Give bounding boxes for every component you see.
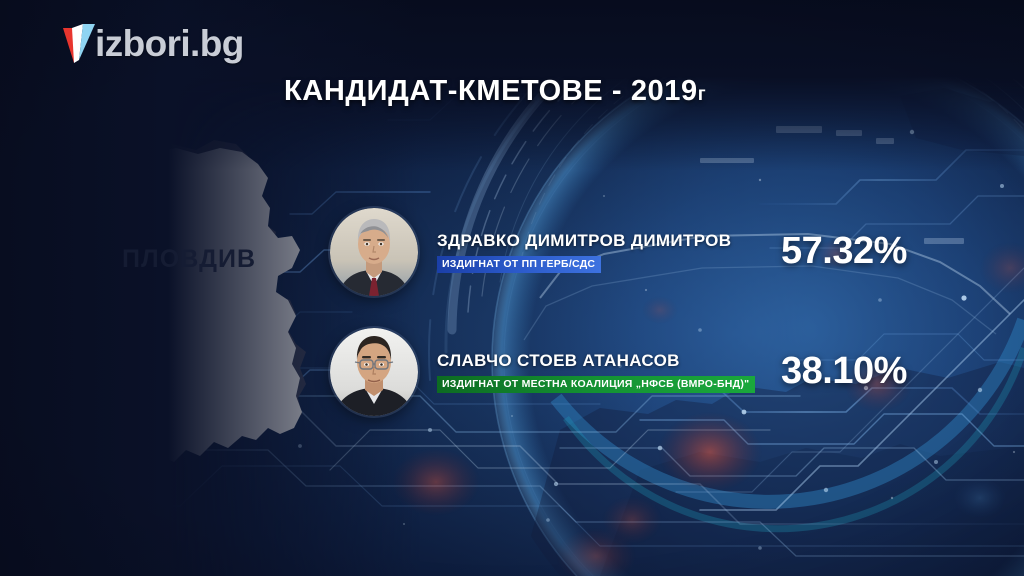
site-logo[interactable]: izbori.bg	[63, 19, 244, 67]
candidate-photo-zdravko-dimitrov	[330, 208, 418, 296]
candidate-name: ЗДРАВКО ДИМИТРОВ ДИМИТРОВ	[437, 231, 731, 251]
candidate-percent: 57.32%	[781, 230, 907, 273]
page-title-main: КАНДИДАТ-КМЕТОВЕ - 2019	[284, 75, 698, 107]
candidate-row[interactable]: СЛАВЧО СТОЕВ АТАНАСОВ ИЗДИГНАТ ОТ МЕСТНА…	[330, 326, 755, 418]
checkmark-logo-icon	[63, 22, 97, 64]
candidate-row[interactable]: ЗДРАВКО ДИМИТРОВ ДИМИТРОВ ИЗДИГНАТ ОТ ПП…	[330, 206, 731, 298]
map-region-label: ПЛОВДИВ	[122, 245, 256, 274]
candidate-info: СЛАВЧО СТОЕВ АТАНАСОВ ИЗДИГНАТ ОТ МЕСТНА…	[437, 351, 755, 393]
site-logo-text: izbori.bg	[95, 25, 244, 62]
page-title-suffix: г	[698, 84, 706, 105]
candidate-party-badge: ИЗДИГНАТ ОТ ПП ГЕРБ/СДС	[437, 256, 601, 273]
candidate-info: ЗДРАВКО ДИМИТРОВ ДИМИТРОВ ИЗДИГНАТ ОТ ПП…	[437, 231, 731, 273]
candidate-photo-slavcho-atanasov	[330, 328, 418, 416]
candidate-name: СЛАВЧО СТОЕВ АТАНАСОВ	[437, 351, 755, 371]
infographic-slide: izbori.bg КАНДИДАТ-КМЕТОВЕ - 2019г ПЛОВД…	[0, 0, 1024, 576]
candidate-party-badge: ИЗДИГНАТ ОТ МЕСТНА КОАЛИЦИЯ „НФСБ (ВМРО-…	[437, 376, 755, 393]
candidate-percent: 38.10%	[781, 350, 907, 393]
page-title: КАНДИДАТ-КМЕТОВЕ - 2019г	[284, 75, 706, 108]
